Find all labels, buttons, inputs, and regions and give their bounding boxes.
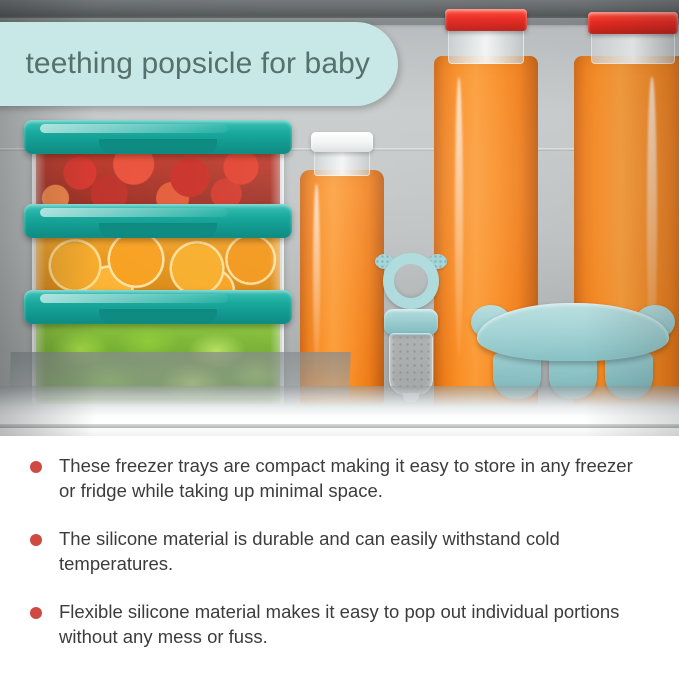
- lid-highlight: [40, 124, 228, 133]
- lid-highlight: [40, 294, 228, 303]
- feature-text: Flexible silicone material makes it easy…: [59, 600, 649, 649]
- list-item: The silicone material is durable and can…: [30, 527, 649, 576]
- product-feature-image: teething popsicle for baby These freezer…: [0, 0, 679, 679]
- lid-highlight: [40, 208, 228, 217]
- headline-text: teething popsicle for baby: [26, 49, 371, 79]
- feature-text: These freezer trays are compact making i…: [59, 454, 649, 503]
- list-item: Flexible silicone material makes it easy…: [30, 600, 649, 649]
- feature-text: The silicone material is durable and can…: [59, 527, 649, 576]
- bullet-icon: [30, 534, 42, 546]
- list-item: These freezer trays are compact making i…: [30, 454, 649, 503]
- product-photo: teething popsicle for baby: [0, 0, 679, 436]
- feature-list: These freezer trays are compact making i…: [0, 440, 679, 674]
- container-lid-top: [24, 120, 292, 154]
- bullet-icon: [30, 607, 42, 619]
- container-lid-middle: [24, 204, 292, 238]
- bullet-icon: [30, 461, 42, 473]
- container-lid-bottom: [24, 290, 292, 324]
- headline-banner: teething popsicle for baby: [0, 22, 398, 106]
